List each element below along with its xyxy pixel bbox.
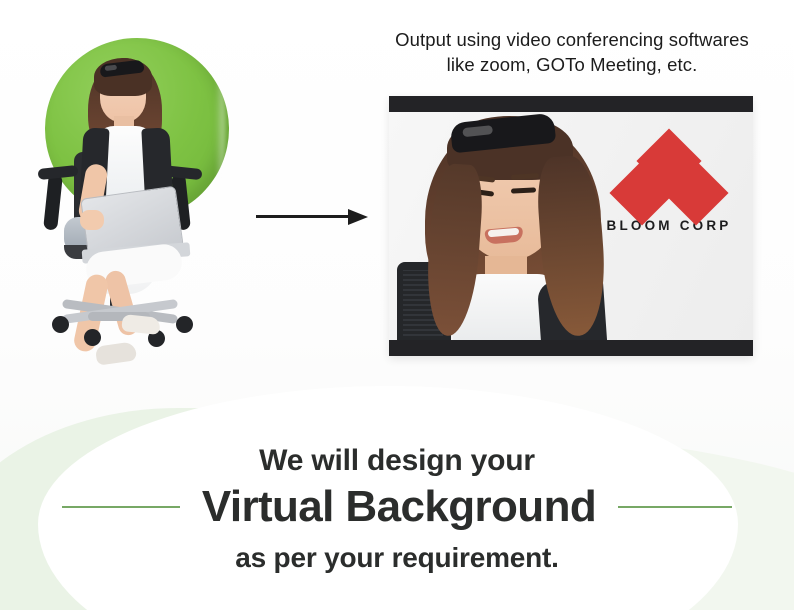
headline-line-3: as per your requirement. (0, 542, 794, 574)
headline-line-1: We will design your (0, 444, 794, 478)
video-frame-stage: BLOOM CORP (389, 112, 753, 340)
video-frame-top-bar (389, 96, 753, 112)
poster-canvas: Output using video conferencing software… (0, 0, 794, 610)
arrow-shaft (256, 215, 352, 218)
logo-diamonds (599, 138, 739, 214)
output-caption: Output using video conferencing software… (354, 28, 790, 77)
chair-armrest-left (43, 173, 63, 230)
video-frame-bottom-bar (389, 340, 753, 356)
green-screen-photo (24, 24, 264, 394)
right-arrow-icon (256, 209, 368, 225)
caption-line-2: like zoom, GOTo Meeting, etc. (354, 53, 790, 78)
chair-caster (52, 316, 69, 333)
headline-block: We will design your Virtual Background a… (0, 444, 794, 574)
logo-wordmark: BLOOM CORP (599, 218, 739, 233)
headline-rule-left (62, 506, 180, 508)
arrow-head (348, 209, 368, 225)
headline-line-2: Virtual Background (202, 482, 596, 532)
headline-rule-right (618, 506, 732, 508)
chair-caster (84, 329, 101, 346)
video-call-frame: BLOOM CORP (389, 96, 753, 356)
headline-line-2-row: Virtual Background (0, 482, 794, 532)
bloom-corp-logo: BLOOM CORP (599, 138, 739, 233)
person-shoe-front (95, 341, 137, 365)
caption-line-1: Output using video conferencing software… (354, 28, 790, 53)
person-hand (80, 210, 104, 230)
chair-caster (176, 316, 193, 333)
